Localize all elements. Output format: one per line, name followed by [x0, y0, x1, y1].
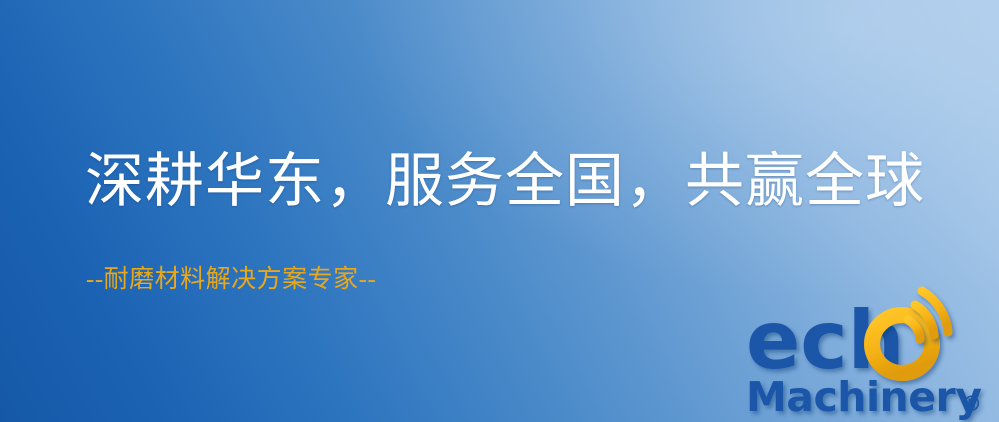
logo-trademark-symbol: ® [961, 392, 982, 416]
logo-wordmark-machinery: Machinery ® [746, 373, 982, 421]
banner-subtitle: --耐磨材料解决方案专家-- [86, 267, 376, 292]
logo-text-machinery: Machinery [746, 373, 981, 421]
hero-banner: 深耕华东，服务全国，共赢全球 --耐磨材料解决方案专家-- [0, 0, 999, 422]
signal-arc-inner [908, 320, 920, 339]
banner-headline: 深耕华东，服务全国，共赢全球 [85, 152, 925, 211]
echo-machinery-logo: ech Machinery ® [742, 292, 999, 422]
